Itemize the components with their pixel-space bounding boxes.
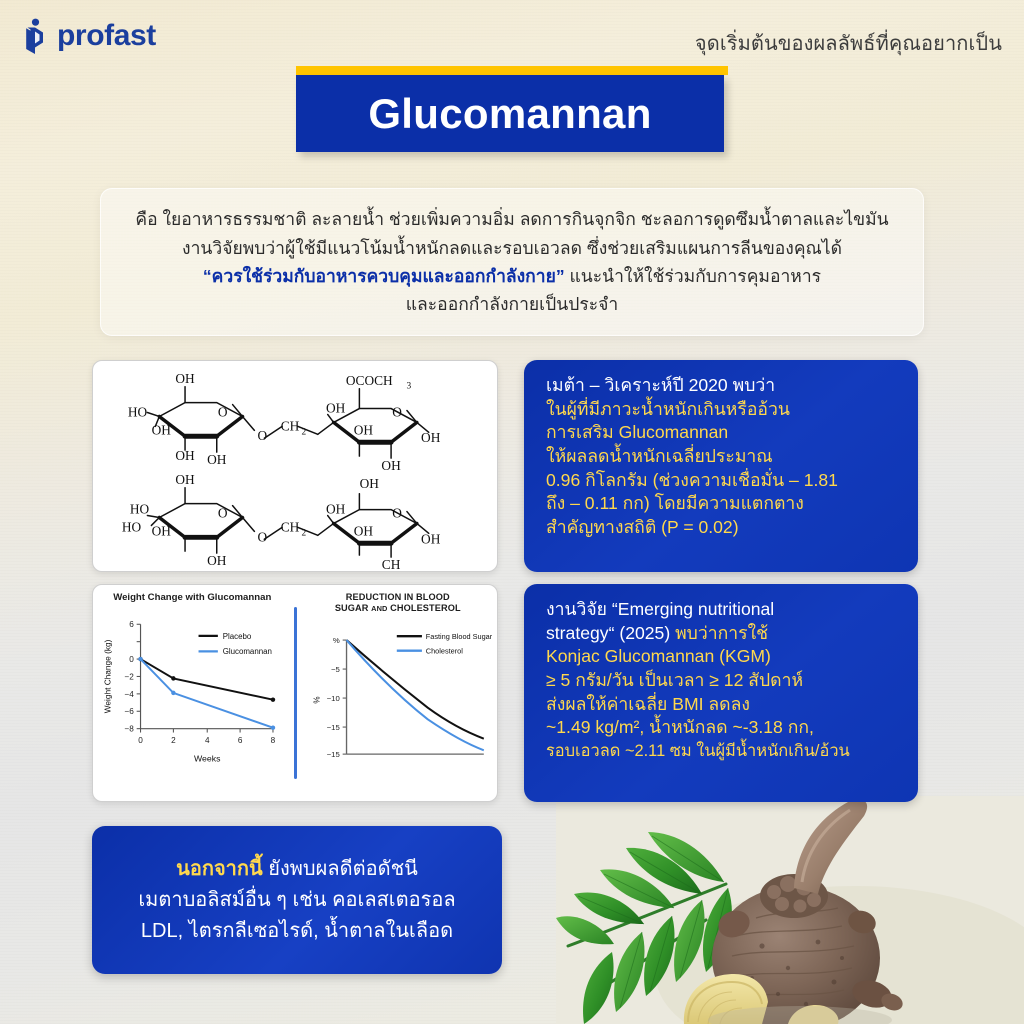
svg-text:HO: HO (130, 502, 150, 517)
svg-text:2: 2 (302, 427, 307, 437)
strategy-card-line-2: strategy“ (2025) พบว่าการใช้ (546, 622, 900, 646)
description-highlight: “ควรใช้ร่วมกับอาหารควบคุมและออกกำลังกาย” (203, 266, 565, 286)
svg-text:0: 0 (129, 655, 134, 664)
svg-text:OH: OH (360, 476, 380, 491)
svg-text:O: O (257, 428, 267, 443)
page-title: Glucomannan (368, 90, 651, 138)
svg-text:OH: OH (175, 371, 195, 386)
svg-text:−4: −4 (124, 689, 134, 698)
svg-text:2: 2 (302, 528, 307, 538)
meta-card-line-7: สำคัญทางสถิติ (P = 0.02) (546, 516, 900, 540)
chart-weight-xlabel: Weeks (194, 753, 221, 763)
svg-text:−15: −15 (326, 723, 339, 732)
charts-panel: Weight Change with Glucomannan 6 0 (92, 584, 498, 802)
strategy-card-line-4: ≥ 5 กรัม/วัน เป็นเวลา ≥ 12 สัปดาห์ (546, 669, 900, 693)
svg-text:OH: OH (152, 422, 172, 437)
svg-text:−6: −6 (124, 707, 134, 716)
svg-text:3: 3 (407, 382, 412, 392)
svg-text:OH: OH (326, 502, 346, 517)
svg-text:6: 6 (129, 620, 134, 629)
brand-name: profast (57, 21, 156, 51)
svg-text:OH: OH (421, 531, 441, 546)
konjac-corm-and-leaves-illustration (556, 796, 1024, 1024)
additional-benefits-card: นอกจากนี้ ยังพบผลดีต่อดัชนี เมตาบอลิสม์อ… (92, 826, 502, 974)
svg-text:OH: OH (354, 523, 374, 538)
brand-logo[interactable]: profast (22, 18, 156, 54)
header-tagline: จุดเริ่มต้นของผลลัพธ์ที่คุณอยากเป็น (695, 27, 1002, 59)
svg-text:O: O (392, 506, 402, 521)
svg-text:Placebo: Placebo (223, 631, 252, 640)
svg-text:HO: HO (128, 404, 148, 419)
meta-card-line-1: เมต้า – วิเคราะห์ปี 2020 พบว่า (546, 374, 900, 398)
chemical-structure-panel: OH HO OH OH O O OH CH 2 OCOCH 3 OH OH OH… (92, 360, 498, 572)
svg-text:CH: CH (281, 418, 300, 433)
description-line-1: คือ ใยอาหารธรรมชาติ ละลายน้ำ ช่วยเพิ่มคว… (135, 205, 888, 233)
svg-text:%: % (332, 636, 339, 645)
svg-text:6: 6 (238, 736, 243, 745)
svg-text:OH: OH (421, 430, 441, 445)
svg-text:−15: −15 (326, 750, 339, 759)
meta-card-line-2: ในผู้ที่มีภาวะน้ำหนักเกินหรืออ้วน (546, 398, 900, 422)
chart-reduction: REDUCTION IN BLOOD SUGAR AND CHOLESTEROL… (299, 585, 498, 801)
chart-weight-change-plot: 6 0 −2 −4 −6 −8 0 2 4 6 (98, 606, 287, 774)
svg-text:0: 0 (138, 736, 143, 745)
strategy-card-line-2-yellow: พบว่าการใช้ (675, 623, 768, 643)
svg-text:Glucomannan: Glucomannan (223, 647, 272, 656)
meta-card-line-5: 0.96 กิโลกรัม (ช่วงความเชื่อมั่น – 1.81 (546, 469, 900, 493)
svg-text:O: O (218, 404, 228, 419)
chart-reduction-title: REDUCTION IN BLOOD SUGAR AND CHOLESTEROL (304, 592, 493, 614)
chart-reduction-title-l1: REDUCTION IN BLOOD (346, 592, 450, 602)
strategy-card-line-5: ส่งผลให้ค่าเฉลี่ย BMI ลดลง (546, 693, 900, 717)
svg-text:OCOCH: OCOCH (346, 373, 393, 388)
strategy-card-line-6: ~1.49 kg/m², น้ำหนักลด ~-3.18 กก, (546, 716, 900, 740)
svg-text:OH: OH (381, 458, 401, 473)
benefits-line-1: นอกจากนี้ ยังพบผลดีต่อดัชนี (176, 854, 418, 885)
svg-text:8: 8 (271, 736, 276, 745)
chart-reduction-legend: Fasting Blood Sugar Cholesterol (396, 633, 492, 657)
svg-text:−8: −8 (124, 724, 134, 733)
benefits-line-2: เมตาบอลิสม์อื่น ๆ เช่น คอเลสเตอรอล (138, 885, 455, 916)
konjac-photo (556, 796, 1024, 1024)
chart-reduction-plot: % −5 −10 −15 −15 % Fasting Blood Sugar C… (304, 616, 493, 784)
svg-text:OH: OH (207, 553, 227, 568)
benefits-line-3: LDL, ไตรกลีเซอไรด์, น้ำตาลในเลือด (141, 916, 453, 947)
svg-text:HO: HO (122, 519, 142, 534)
svg-text:OH: OH (207, 452, 227, 467)
description-card: คือ ใยอาหารธรรมชาติ ละลายน้ำ ช่วยเพิ่มคว… (100, 188, 924, 336)
chart-reduction-ylabel: % (312, 697, 321, 704)
title-accent-bar (296, 66, 728, 75)
description-line-2: งานวิจัยพบว่าผู้ใช้มีแนวโน้มน้ำหนักลดและ… (182, 234, 842, 262)
svg-text:OH: OH (354, 422, 374, 437)
strategy-card-line-3: Konjac Glucomannan (KGM) (546, 645, 900, 669)
svg-text:−10: −10 (326, 694, 339, 703)
meta-card-line-3: การเสริม Glucomannan (546, 421, 900, 445)
meta-card-line-6: ถึง – 0.11 กก) โดยมีความแตกตาง (546, 492, 900, 516)
chart-reduction-title-l2b: AND (371, 604, 387, 613)
description-line-3-rest: แนะนำให้ใช้ร่วมกับการคุมอาหาร (565, 266, 821, 286)
charts-divider (294, 607, 297, 779)
strategy-card-line-7: รอบเอวลด ~2.11 ซม ในผู้มีน้ำหนักเกิน/อ้ว… (546, 740, 900, 762)
svg-text:OH: OH (175, 472, 195, 487)
svg-text:O: O (218, 506, 228, 521)
svg-text:O: O (392, 404, 402, 419)
chart-reduction-title-l2a: SUGAR (335, 603, 371, 613)
chart-weight-legend: Placebo Glucomannan (199, 631, 272, 655)
svg-text:CH: CH (281, 519, 300, 534)
svg-text:OH: OH (152, 523, 172, 538)
svg-text:OH: OH (326, 401, 346, 416)
description-line-3: “ควรใช้ร่วมกับอาหารควบคุมและออกกำลังกาย”… (203, 262, 821, 290)
meta-card-line-4: ให้ผลลดน้ำหนักเฉลี่ยประมาณ (546, 445, 900, 469)
glucomannan-structure-diagram: OH HO OH OH O O OH CH 2 OCOCH 3 OH OH OH… (93, 361, 497, 571)
svg-text:CH: CH (382, 557, 401, 571)
profast-person-p-icon (22, 18, 48, 54)
svg-text:Cholesterol: Cholesterol (425, 647, 462, 656)
description-line-4: และออกกำลังกายเป็นประจำ (406, 290, 618, 318)
title-banner: Glucomannan (296, 66, 724, 152)
strategy-card-line-1: งานวิจัย “Emerging nutritional (546, 598, 900, 622)
chart-weight-change: Weight Change with Glucomannan 6 0 (93, 585, 292, 801)
meta-analysis-card: เมต้า – วิเคราะห์ปี 2020 พบว่า ในผู้ที่ม… (524, 360, 918, 572)
chart-weight-ylabel: Weight Change (kg) (103, 639, 113, 713)
title-box: Glucomannan (296, 75, 724, 152)
infographic-poster: profast จุดเริ่มต้นของผลลัพธ์ที่คุณอยากเ… (0, 0, 1024, 1024)
svg-text:Fasting Blood Sugar: Fasting Blood Sugar (425, 633, 492, 642)
emerging-strategy-card: งานวิจัย “Emerging nutritional strategy“… (524, 584, 918, 802)
svg-text:2: 2 (171, 736, 176, 745)
svg-text:O: O (257, 529, 267, 544)
svg-text:4: 4 (205, 736, 210, 745)
chart-reduction-title-l2c: CHOLESTEROL (387, 603, 460, 613)
svg-text:−2: −2 (124, 672, 134, 681)
benefits-line-1-rest: ยังพบผลดีต่อดัชนี (263, 858, 418, 880)
benefits-highlight: นอกจากนี้ (176, 858, 263, 880)
svg-text:−5: −5 (330, 665, 339, 674)
strategy-card-line-2-white: strategy“ (2025) (546, 623, 675, 643)
svg-text:OH: OH (175, 448, 195, 463)
chart-weight-change-title: Weight Change with Glucomannan (98, 592, 287, 604)
